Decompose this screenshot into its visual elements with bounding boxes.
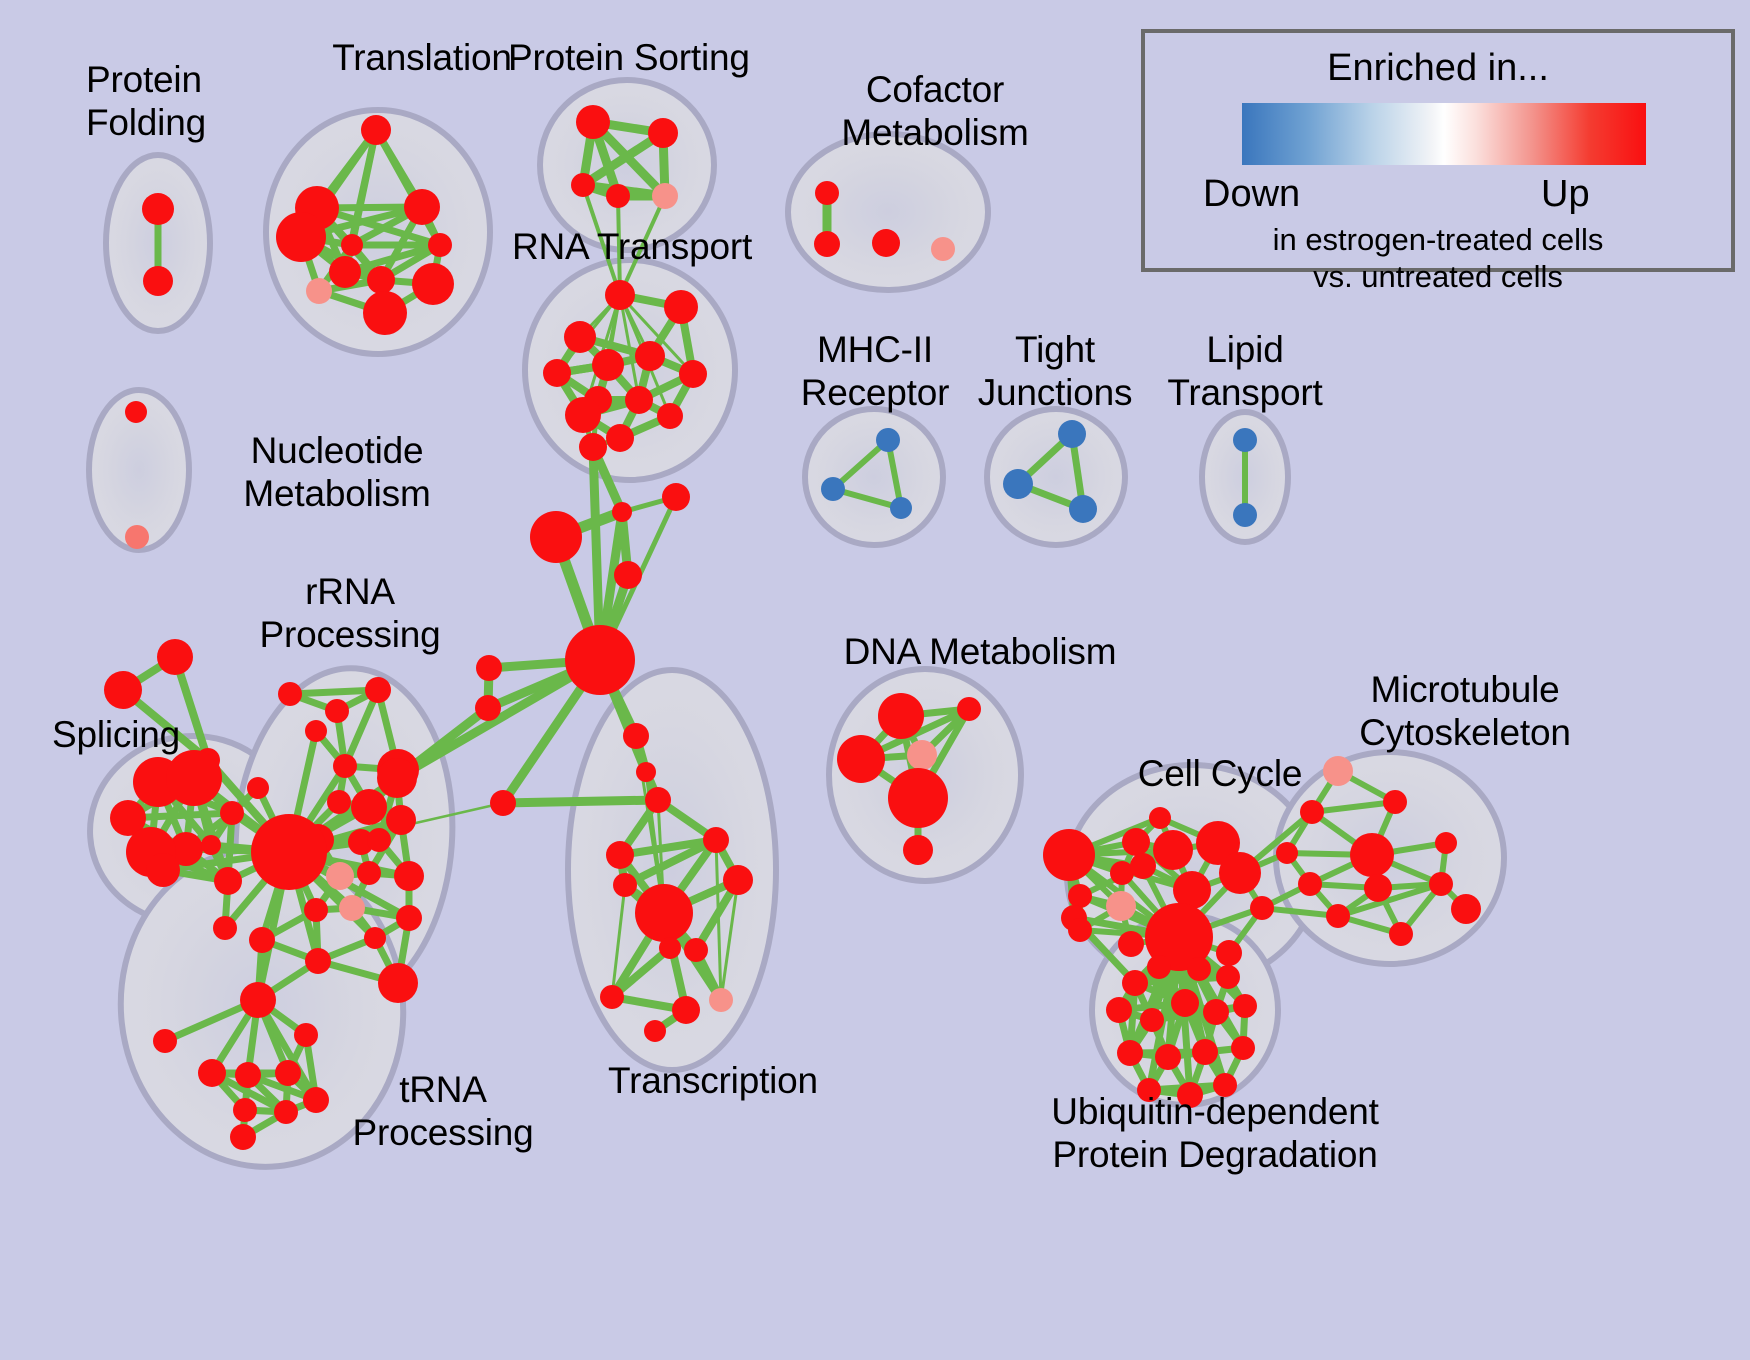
cluster-label-rna-transport: RNA Transport (512, 225, 822, 268)
cluster-label-protein-folding: Protein Folding (86, 58, 286, 144)
cluster-label-lipid-transport: Lipid Transport (1165, 328, 1325, 414)
cluster-label-transcription: Transcription (568, 1059, 858, 1102)
cluster-label-trna-processing: tRNA Processing (318, 1068, 568, 1154)
legend-subtitle-line1: in estrogen-treated cells (1273, 222, 1604, 257)
cluster-label-cell-cycle: Cell Cycle (1095, 752, 1345, 795)
legend-panel: Enriched in... Down Up in estrogen-treat… (1141, 29, 1735, 272)
network-figure: Protein Folding Translation Protein Sort… (0, 0, 1750, 1360)
cluster-blob-mhc2 (805, 409, 943, 545)
legend-subtitle: in estrogen-treated cells vs. untreated … (1145, 221, 1731, 295)
legend-down-label: Down (1203, 173, 1300, 216)
cluster-label-nucleotide-metabolism: Nucleotide Metabolism (192, 429, 482, 515)
cluster-label-splicing: Splicing (52, 713, 252, 756)
cluster-label-mhc-ii-receptor: MHC-II Receptor (795, 328, 955, 414)
cluster-label-ubiquitin-protein-degradation: Ubiquitin-dependent Protein Degradation (985, 1090, 1445, 1176)
cluster-label-dna-metabolism: DNA Metabolism (810, 630, 1150, 673)
cluster-label-protein-sorting: Protein Sorting (508, 36, 828, 79)
cluster-label-rrna-processing: rRNA Processing (250, 570, 450, 656)
cluster-label-tight-junctions: Tight Junctions (975, 328, 1135, 414)
cluster-label-cofactor-metabolism: Cofactor Metabolism (800, 68, 1070, 154)
legend-color-gradient-bar (1242, 103, 1646, 165)
legend-subtitle-line2: vs. untreated cells (1313, 259, 1563, 294)
legend-title: Enriched in... (1145, 47, 1731, 90)
cluster-label-microtubule-cytoskeleton: Microtubule Cytoskeleton (1300, 668, 1630, 754)
legend-up-label: Up (1541, 173, 1590, 216)
